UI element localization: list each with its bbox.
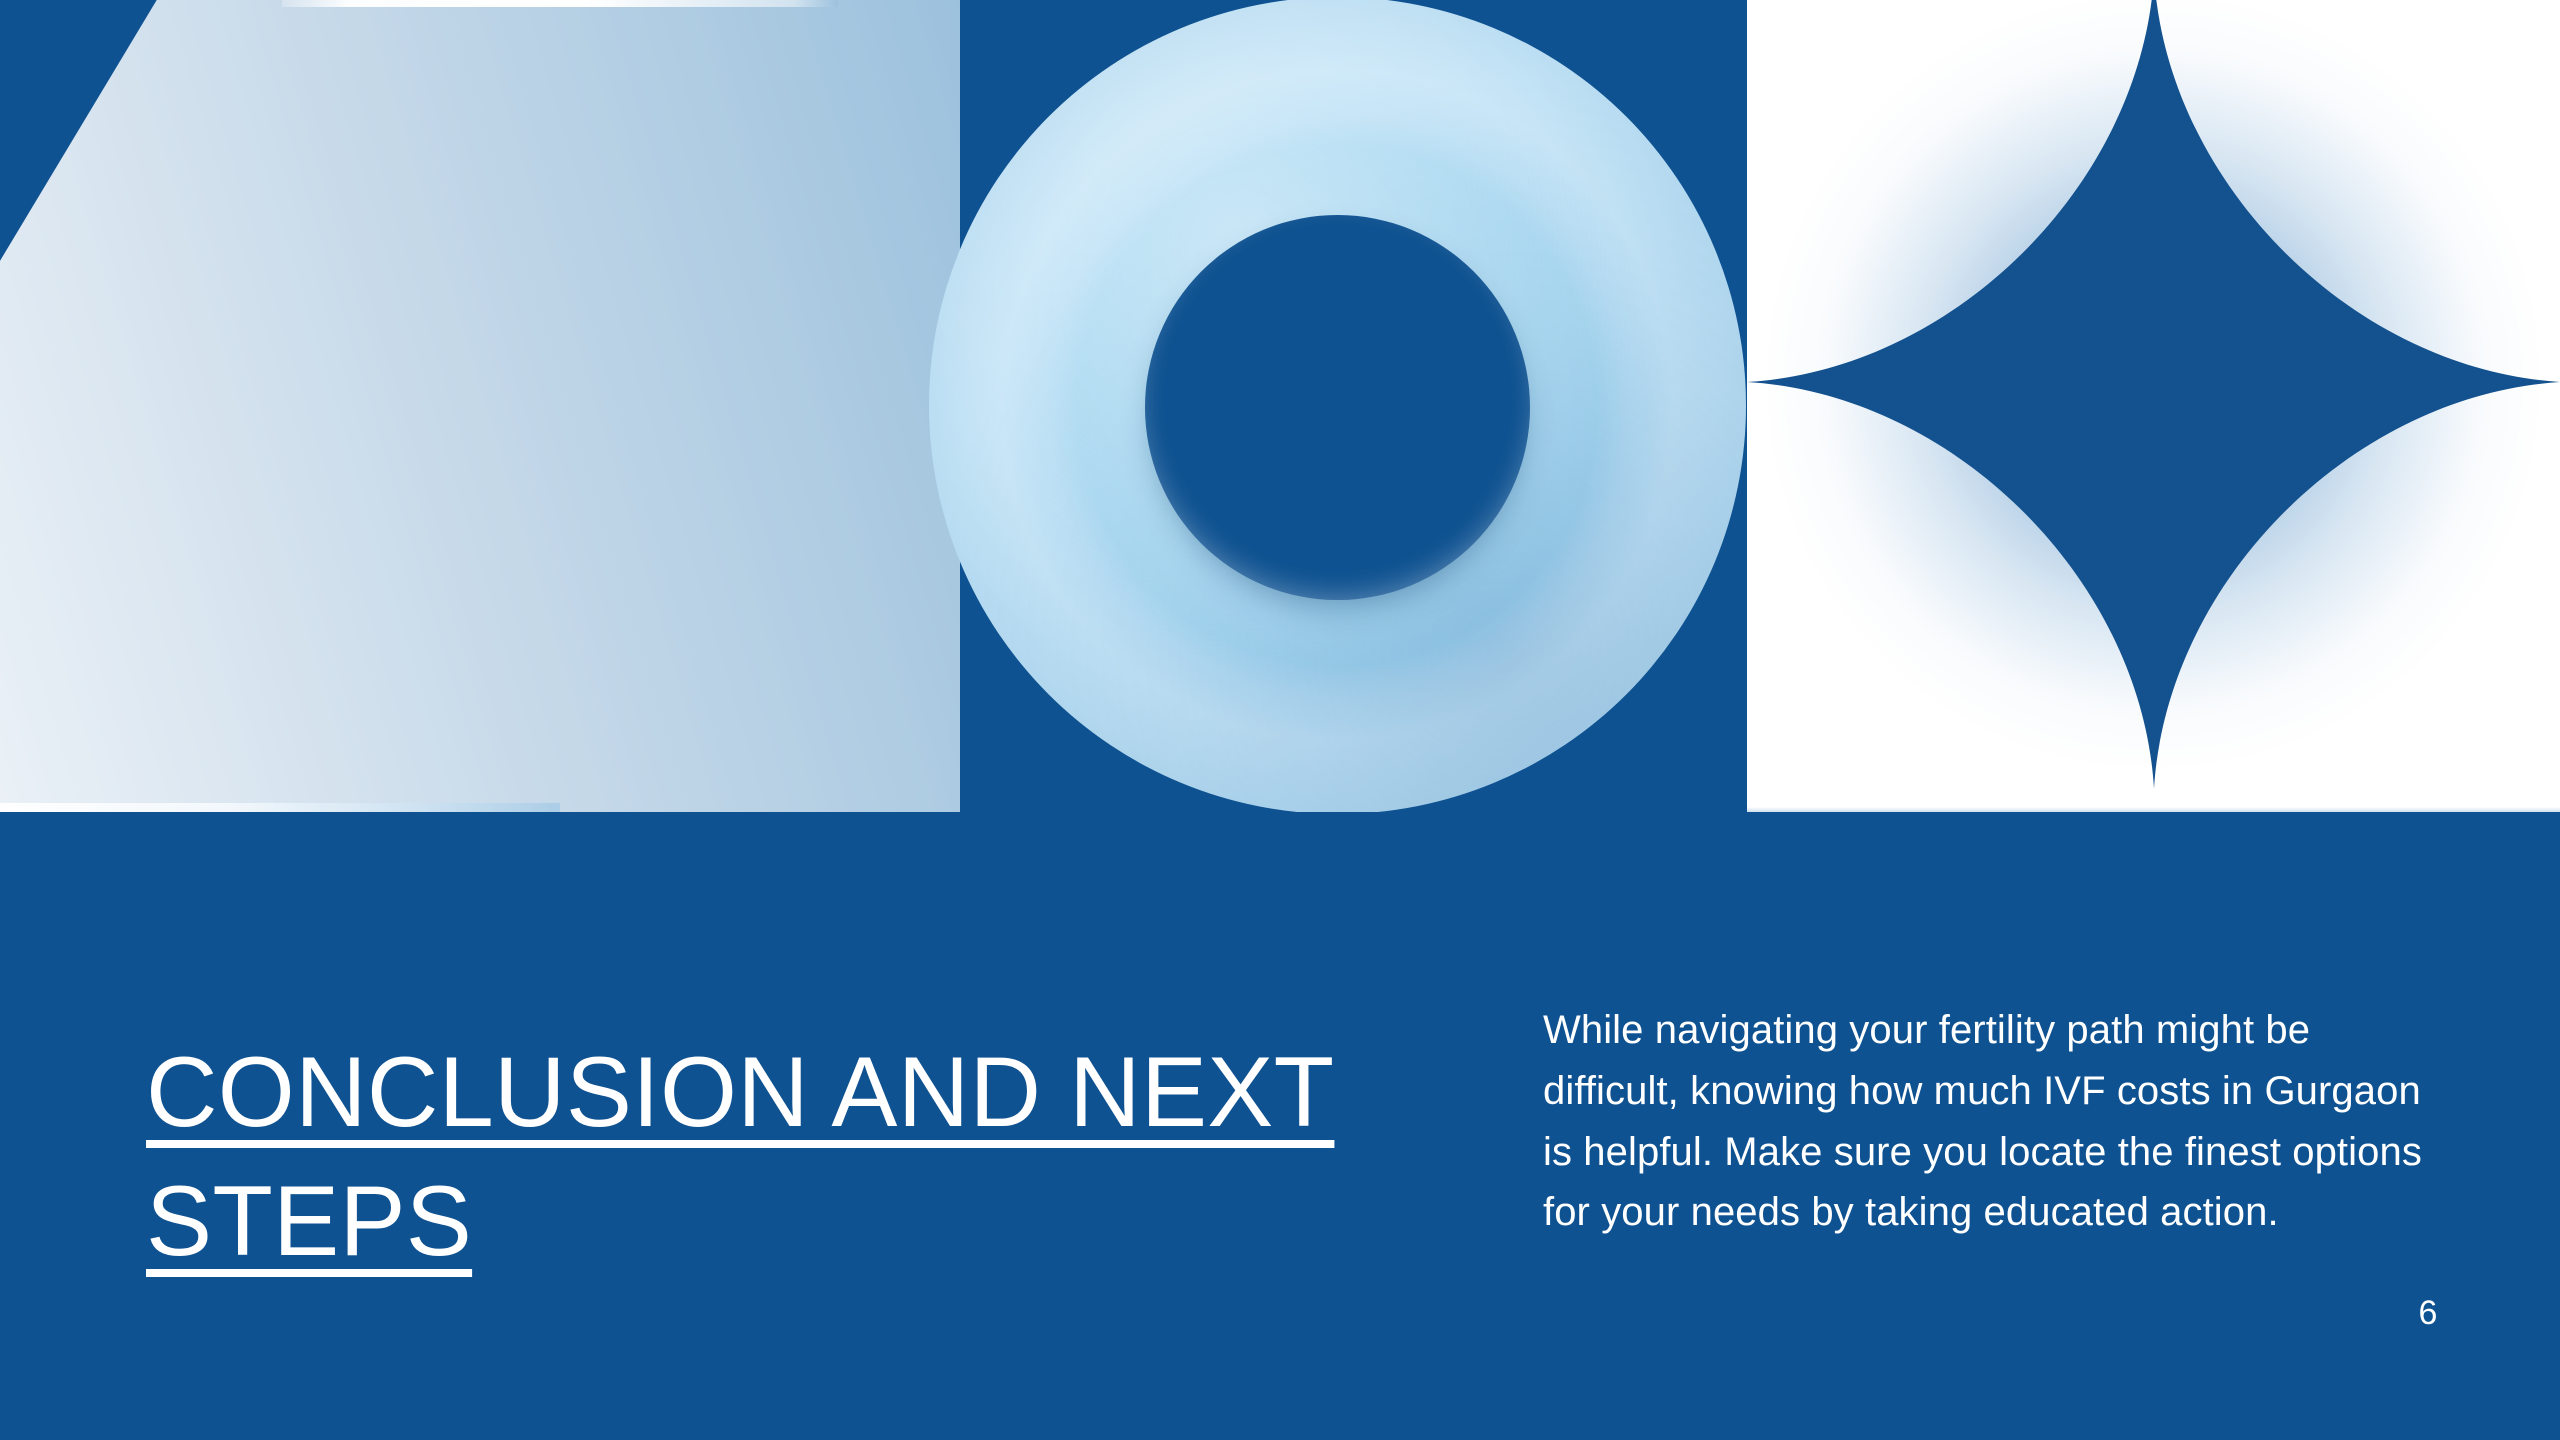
parallelogram-bottom-highlight xyxy=(0,803,560,812)
slide: Conclusion and Next Steps While navigati… xyxy=(0,0,2560,1440)
body-paragraph: While navigating your fertility path mig… xyxy=(1543,1000,2443,1243)
page-title: Conclusion and Next Steps xyxy=(146,1028,1476,1285)
decorative-graphic-band xyxy=(0,0,2560,812)
parallelogram-shape xyxy=(0,0,960,812)
ring-inner-hole xyxy=(1145,215,1530,600)
parallelogram-top-highlight xyxy=(282,0,838,7)
page-number: 6 xyxy=(2398,1296,2458,1330)
star-panel xyxy=(1747,0,2560,812)
gradient-parallelogram-icon xyxy=(0,0,960,812)
four-point-star-icon xyxy=(1747,0,2560,797)
gradient-ring-icon xyxy=(929,0,1746,812)
